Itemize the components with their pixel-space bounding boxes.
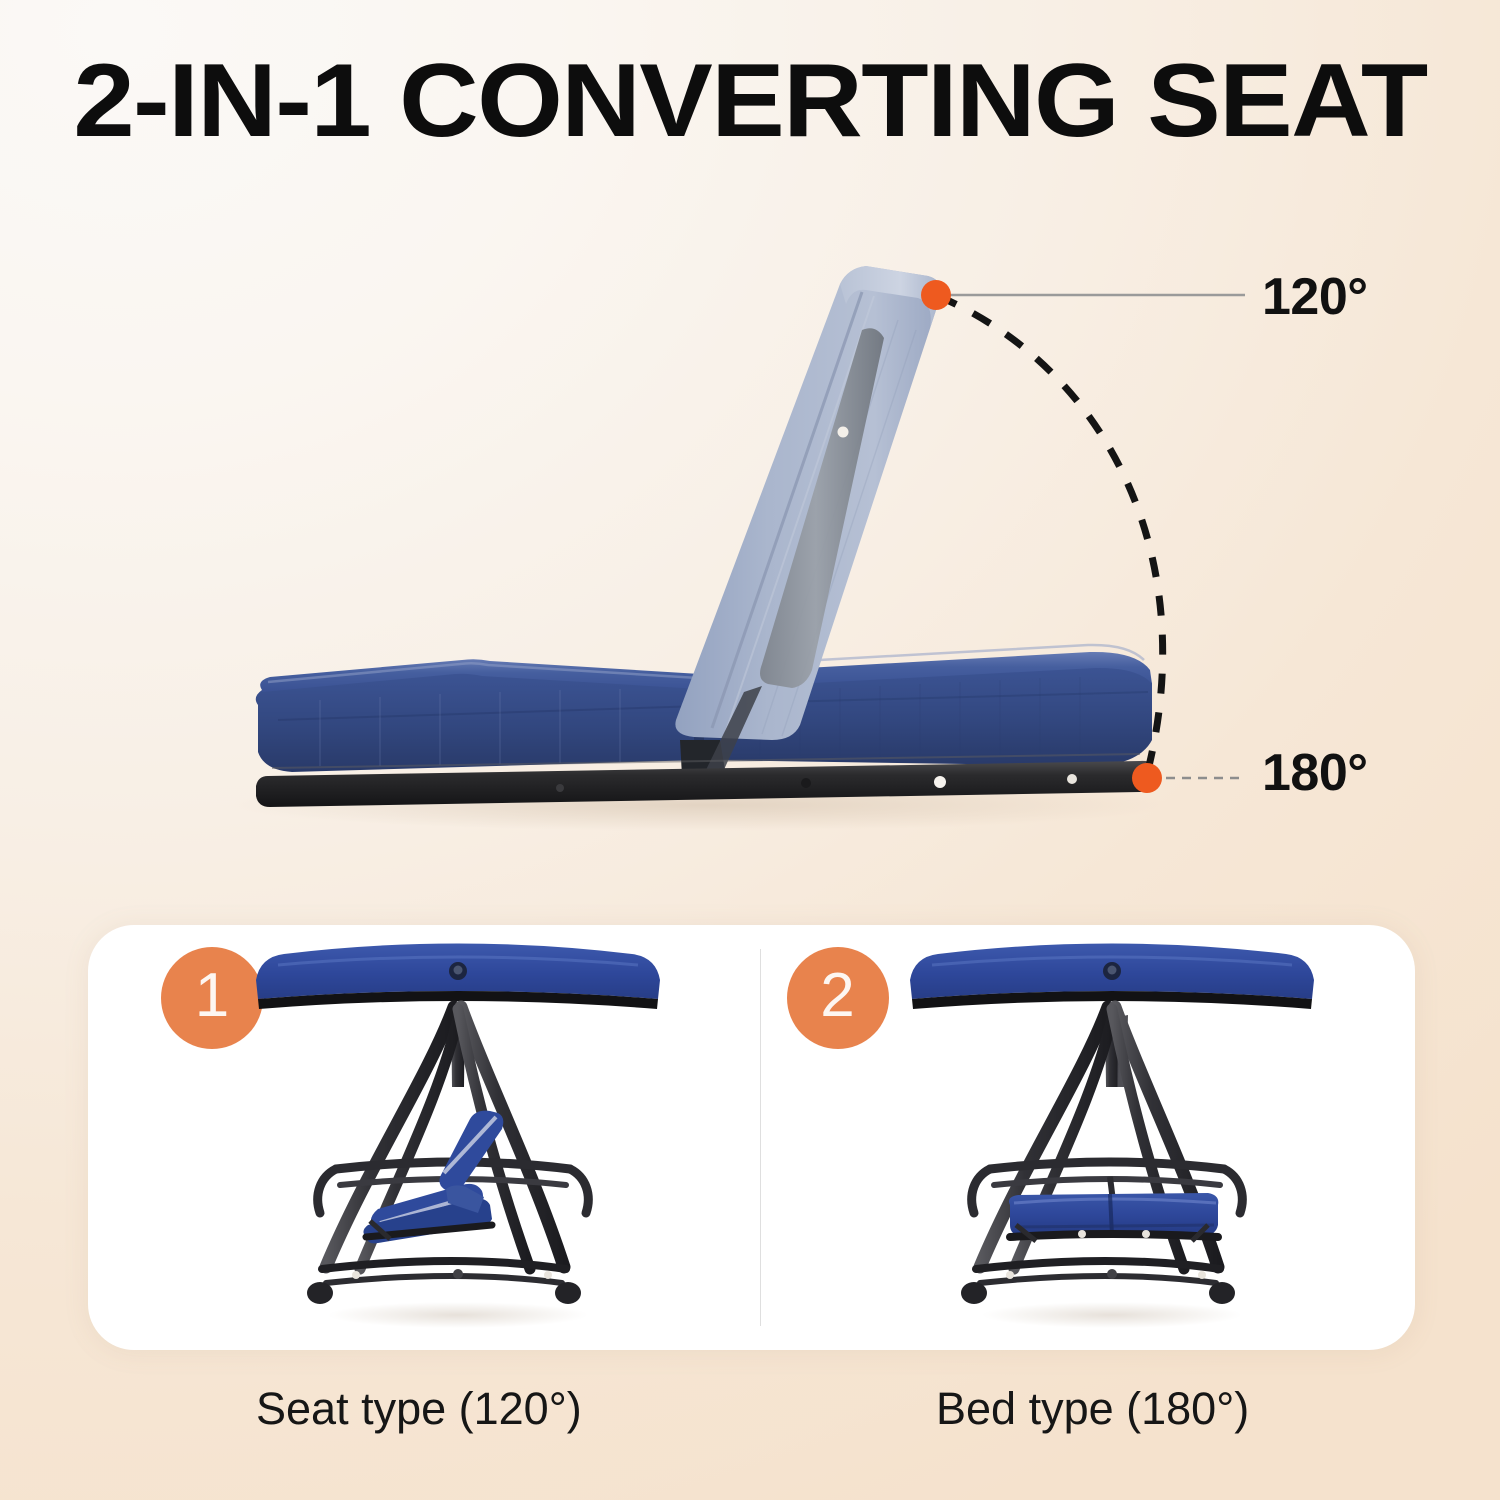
bar-rivet	[556, 784, 564, 792]
caption-bed-type: Bed type (180°)	[936, 1383, 1249, 1435]
swing-illustration-bed	[902, 937, 1322, 1342]
caption-seat-type: Seat type (120°)	[256, 1383, 582, 1435]
bar-rivet	[1067, 774, 1077, 784]
swing-illustration-seat	[248, 937, 668, 1342]
angle-label-180: 180°	[1262, 743, 1368, 803]
seat-cushion-left	[256, 659, 700, 772]
pane-divider	[760, 949, 761, 1326]
marker-120-dot	[921, 280, 951, 310]
canopy	[910, 944, 1314, 1010]
canopy	[256, 944, 660, 1010]
infographic-root: 2-IN-1 CONVERTING SEAT	[0, 0, 1500, 1500]
comparison-card: 1	[88, 925, 1415, 1350]
bar-rivet	[934, 776, 946, 788]
marker-180-dot	[1132, 763, 1162, 793]
step-badge-2: 2	[787, 947, 889, 1049]
bar-rivet	[801, 778, 811, 788]
page-title: 2-IN-1 CONVERTING SEAT	[0, 47, 1500, 156]
angle-label-120: 120°	[1262, 267, 1368, 327]
pane-seat-type[interactable]: 1	[88, 925, 752, 1350]
pane-bed-type[interactable]: 2	[752, 925, 1416, 1350]
